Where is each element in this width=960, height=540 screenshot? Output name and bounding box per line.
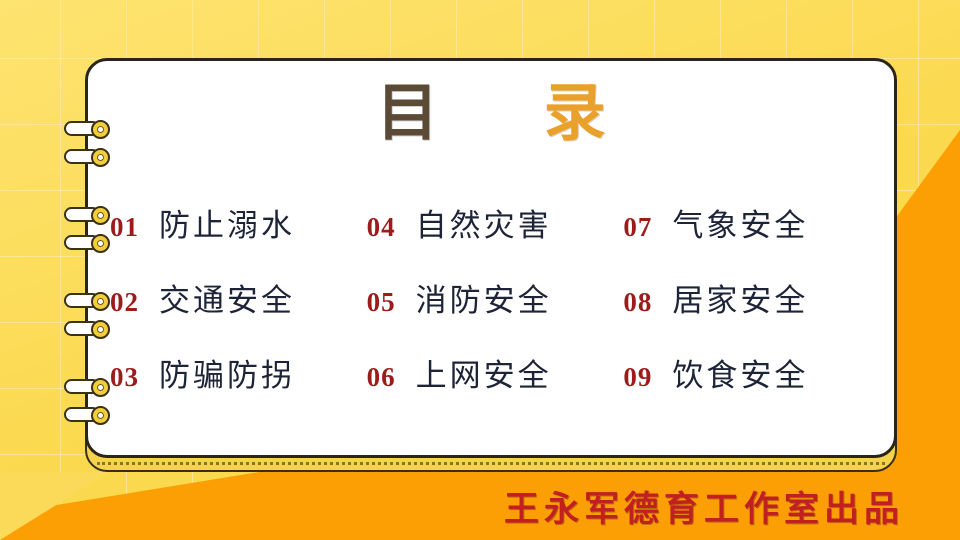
toc-number: 04 [367, 212, 396, 243]
toc-label: 消防安全 [416, 275, 552, 320]
toc-item-03[interactable]: 03 防骗防拐 [110, 350, 367, 395]
toc-label: 饮食安全 [672, 350, 808, 395]
toc-item-01[interactable]: 01 防止溺水 [110, 200, 367, 245]
toc-number: 09 [623, 362, 652, 393]
toc-number: 02 [110, 287, 139, 318]
page-title: 目 录 [85, 82, 897, 144]
toc-label: 防止溺水 [159, 200, 295, 245]
toc-label: 交通安全 [159, 275, 295, 320]
toc-number: 06 [367, 362, 396, 393]
title-char-mu: 目 [376, 76, 438, 149]
toc-item-07[interactable]: 07 气象安全 [623, 200, 880, 245]
toc-item-06[interactable]: 06 上网安全 [367, 350, 624, 395]
toc-item-09[interactable]: 09 饮食安全 [623, 350, 880, 395]
toc-item-05[interactable]: 05 消防安全 [367, 275, 624, 320]
toc-number: 07 [623, 212, 652, 243]
toc-item-04[interactable]: 04 自然灾害 [367, 200, 624, 245]
toc-number: 03 [110, 362, 139, 393]
toc-label: 气象安全 [672, 200, 808, 245]
toc-item-02[interactable]: 02 交通安全 [110, 275, 367, 320]
toc-number: 08 [623, 287, 652, 318]
toc-label: 防骗防拐 [159, 350, 295, 395]
toc-item-08[interactable]: 08 居家安全 [623, 275, 880, 320]
toc-number: 01 [110, 212, 139, 243]
toc-label: 居家安全 [672, 275, 808, 320]
slide-canvas: 目 录 01 防止溺水 04 自然灾害 07 气象安全 02 交通安全 05 消… [0, 0, 960, 540]
toc-label: 自然灾害 [416, 200, 552, 245]
footer-credit: 王永军德育工作室出品 [504, 481, 904, 532]
toc-number: 05 [367, 287, 396, 318]
table-of-contents: 01 防止溺水 04 自然灾害 07 气象安全 02 交通安全 05 消防安全 … [110, 185, 880, 410]
title-char-lu: 录 [544, 76, 606, 149]
toc-label: 上网安全 [416, 350, 552, 395]
